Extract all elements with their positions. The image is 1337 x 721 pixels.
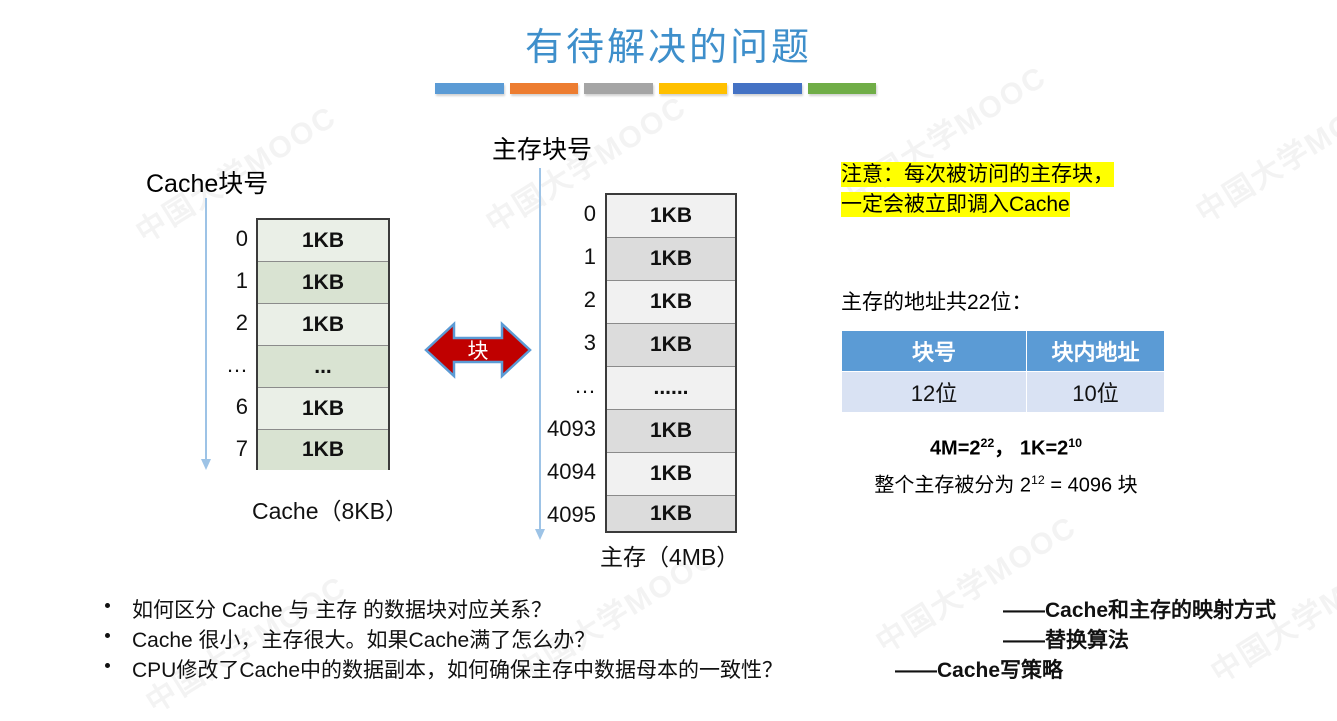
cache-index: 0	[236, 226, 248, 252]
question-answer: ——Cache写策略	[895, 654, 1063, 684]
bullet-dot-icon	[105, 603, 110, 608]
cache-block-row: 1KB	[258, 388, 388, 430]
memory-index: 4095	[547, 502, 596, 528]
cache-index: 1	[236, 268, 248, 294]
memory-block-row: 1KB	[607, 281, 735, 324]
cache-index: 6	[236, 394, 248, 420]
accent-bar-1	[435, 83, 504, 94]
table-row: 12位 10位	[842, 372, 1165, 413]
formula-blocks-exp: 12	[1031, 473, 1045, 487]
accent-bar-2	[510, 83, 579, 94]
cache-block-row: 1KB	[258, 220, 388, 262]
block-transfer-arrow: 块	[424, 318, 532, 382]
memory-index: 0	[584, 201, 596, 227]
formula-1k-exp: 10	[1068, 436, 1082, 450]
question-answer: ——替换算法	[1003, 624, 1129, 654]
table-header-row: 块号 块内地址	[842, 331, 1165, 372]
memory-block-row: 1KB	[607, 410, 735, 453]
memory-index: 4094	[547, 459, 596, 485]
memory-index: …	[574, 373, 596, 399]
memory-block-row: 1KB	[607, 238, 735, 281]
capacity-formula: 4M=222， 1K=210 整个主存被分为 212 = 4096 块	[841, 428, 1171, 501]
bullet-dot-icon	[105, 663, 110, 668]
accent-bar-6	[808, 83, 877, 94]
memory-block-table: 1KB 1KB 1KB 1KB ...... 1KB 1KB 1KB	[605, 193, 737, 533]
double-arrow-icon	[424, 318, 532, 382]
memory-index: 4093	[547, 416, 596, 442]
cache-index: 7	[236, 436, 248, 462]
cache-index: 2	[236, 310, 248, 336]
title-accent-bars	[435, 83, 876, 94]
open-questions-list: 如何区分 Cache 与 主存 的数据块对应关系？ ——Cache和主存的映射方…	[105, 594, 1285, 684]
memory-index: 1	[584, 244, 596, 270]
address-header-block-no: 块号	[842, 331, 1027, 372]
page-title: 有待解决的问题	[0, 16, 1337, 71]
question-answer: ——Cache和主存的映射方式	[1003, 594, 1276, 624]
cache-axis-label: Cache块号	[146, 164, 268, 200]
formula-line-2: 整个主存被分为 212 = 4096 块	[841, 465, 1171, 502]
cache-block-row: 1KB	[258, 262, 388, 304]
bullet-dot-icon	[105, 633, 110, 638]
formula-4m: 4M=2	[930, 438, 981, 460]
memory-block-row: 1KB	[607, 453, 735, 496]
memory-block-row: ......	[607, 367, 735, 410]
cache-caption: Cache（8KB）	[252, 492, 408, 526]
cache-block-table: 1KB 1KB 1KB ... 1KB 1KB	[256, 218, 390, 470]
highlight-note-line1: 注意：每次被访问的主存块，	[841, 162, 1114, 187]
highlight-note: 注意：每次被访问的主存块， 一定会被立即调入Cache	[841, 160, 1114, 220]
memory-block-row: 1KB	[607, 195, 735, 238]
list-item: 如何区分 Cache 与 主存 的数据块对应关系？ ——Cache和主存的映射方…	[105, 594, 1285, 624]
cache-block-row: ...	[258, 346, 388, 388]
memory-index: 3	[584, 330, 596, 356]
memory-caption: 主存（4MB）	[600, 538, 739, 572]
address-value-offset: 10位	[1027, 372, 1165, 413]
formula-blocks-text: 整个主存被分为 2	[874, 474, 1031, 496]
accent-bar-3	[584, 83, 653, 94]
cache-block-row: 1KB	[258, 304, 388, 346]
memory-index: 2	[584, 287, 596, 313]
formula-sep: ， 1K=2	[994, 438, 1068, 460]
address-section-title: 主存的地址共22位：	[841, 286, 1032, 316]
address-header-offset: 块内地址	[1027, 331, 1165, 372]
memory-axis-label: 主存块号	[492, 130, 592, 166]
cache-index: …	[226, 352, 248, 378]
memory-block-row: 1KB	[607, 324, 735, 367]
memory-block-row: 1KB	[607, 496, 735, 531]
formula-4m-exp: 22	[981, 436, 995, 450]
cache-index-column: 0 1 2 … 6 7	[210, 218, 248, 470]
cache-block-row: 1KB	[258, 430, 388, 470]
list-item: Cache 很小，主存很大。如果Cache满了怎么办？ ——替换算法	[105, 624, 1285, 654]
watermark: 中国大学MOOC	[1186, 73, 1337, 232]
formula-line-1: 4M=222， 1K=210	[841, 428, 1171, 465]
highlight-note-line2: 一定会被立即调入Cache	[841, 192, 1070, 217]
accent-bar-4	[659, 83, 728, 94]
memory-index-column: 0 1 2 3 … 4093 4094 4095	[524, 193, 596, 533]
address-format-table: 块号 块内地址 12位 10位	[841, 330, 1165, 413]
list-item: CPU修改了Cache中的数据副本，如何确保主存中数据母本的一致性？ ——Cac…	[105, 654, 1285, 684]
address-value-block-no: 12位	[842, 372, 1027, 413]
question-text: CPU修改了Cache中的数据副本，如何确保主存中数据母本的一致性？	[132, 654, 783, 684]
accent-bar-5	[733, 83, 802, 94]
question-text: 如何区分 Cache 与 主存 的数据块对应关系？	[132, 594, 552, 624]
formula-blocks-result: = 4096 块	[1045, 474, 1138, 496]
question-text: Cache 很小，主存很大。如果Cache满了怎么办？	[132, 624, 595, 654]
